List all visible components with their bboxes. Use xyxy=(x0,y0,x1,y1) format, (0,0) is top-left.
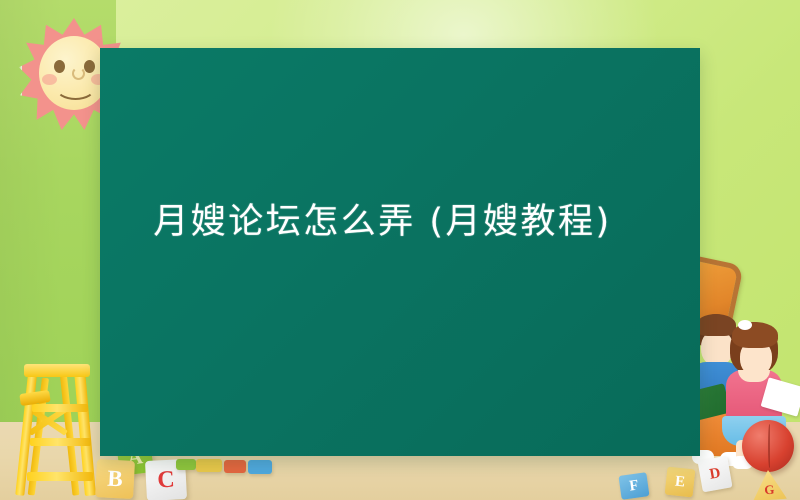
ladder-top-platform xyxy=(24,364,90,377)
ladder-step-1 xyxy=(32,404,88,412)
headline-text: 月嫂论坛怎么弄 (月嫂教程) xyxy=(114,198,690,248)
sun-eye-left xyxy=(54,60,65,73)
alphabet-block-f: F xyxy=(618,472,649,500)
alphabet-block-e: E xyxy=(665,467,696,498)
poster-canvas: A B C F E D G xyxy=(0,0,800,500)
block-letter: B xyxy=(95,459,135,499)
alphabet-block-b: B xyxy=(95,459,135,499)
red-ball-icon xyxy=(742,420,794,472)
boy-fringe xyxy=(696,314,736,336)
toy-block-blue xyxy=(248,460,272,474)
toy-block-green xyxy=(176,459,196,470)
girl-hair-bow xyxy=(738,320,752,330)
ladder-step-2 xyxy=(30,438,91,446)
sun-smile xyxy=(55,74,96,100)
ladder-step-3 xyxy=(27,472,93,481)
toy-block-yellow xyxy=(196,459,222,472)
ball-seam xyxy=(768,424,771,468)
toy-block-orange xyxy=(224,460,246,473)
alphabet-block-d: D xyxy=(697,456,732,493)
sun-face xyxy=(39,36,109,110)
sun-eye-right xyxy=(84,60,95,73)
chalkboard: 月嫂论坛怎么弄 (月嫂教程) xyxy=(100,48,700,456)
